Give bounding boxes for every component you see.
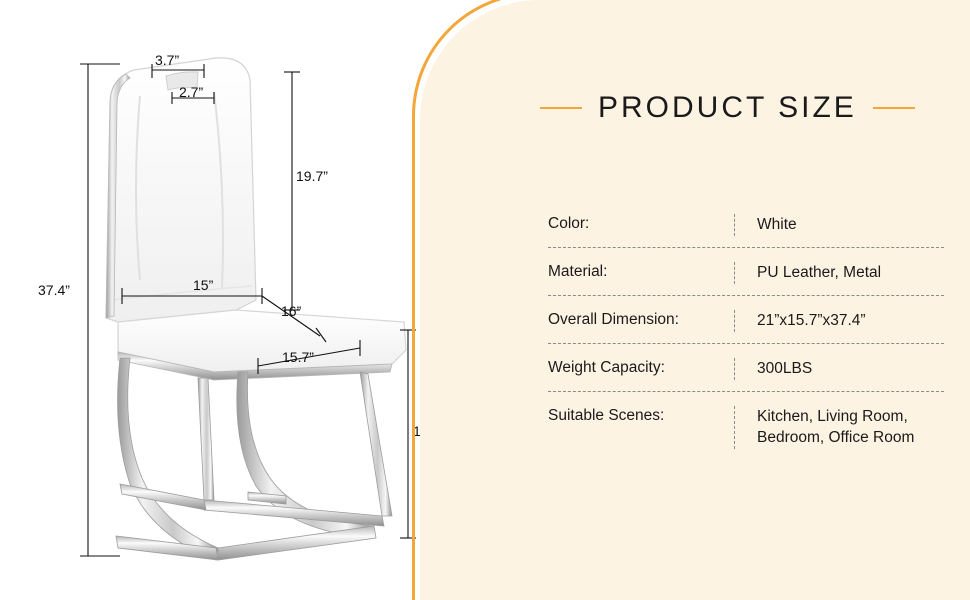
dimension-label-seat-depth: 16” (281, 303, 301, 319)
leg-rear-left (198, 378, 214, 500)
product-size-infographic: 37.4” 19.7” 3.7” 2.7” 15” 16” 15.7” 19” … (0, 0, 970, 600)
spec-label-overall-dimension: Overall Dimension: (548, 310, 734, 331)
spec-row-divider (734, 358, 735, 380)
spec-label-color: Color: (548, 214, 734, 235)
leg-rear-right (360, 372, 392, 516)
spec-row-divider (734, 262, 735, 284)
table-row: Overall Dimension: 21”x15.7”x37.4” (548, 296, 944, 344)
chair-diagram: 37.4” 19.7” 3.7” 2.7” 15” 16” 15.7” 19” (0, 0, 470, 600)
spec-row-divider (734, 406, 735, 449)
spec-value-overall-dimension: 21”x15.7”x37.4” (757, 310, 944, 331)
page-title: PRODUCT SIZE (598, 91, 857, 125)
spec-label-weight-capacity: Weight Capacity: (548, 358, 734, 379)
base-skid-left (116, 536, 218, 560)
spec-value-weight-capacity: 300LBS (757, 358, 944, 379)
spec-label-suitable-scenes: Suitable Scenes: (548, 406, 734, 427)
spec-value-color: White (757, 214, 944, 235)
title-rule-right (873, 107, 915, 109)
spec-label-material: Material: (548, 262, 734, 283)
table-row: Weight Capacity: 300LBS (548, 344, 944, 392)
dimension-label-backrest-height: 19.7” (296, 168, 328, 184)
base-skid-front (218, 526, 376, 560)
dimension-label-seat-width: 15.7” (282, 349, 314, 365)
dimension-label-seat-width-front: 15” (193, 277, 213, 293)
spec-table: Color: White Material: PU Leather, Metal… (548, 200, 944, 461)
spec-row-divider (734, 214, 735, 236)
spec-row-divider (734, 310, 735, 332)
dimension-label-overall-height: 37.4” (38, 282, 70, 298)
base-skid-left-rear (120, 484, 206, 510)
spec-value-suitable-scenes: Kitchen, Living Room, Bedroom, Office Ro… (757, 406, 944, 449)
chair-illustration (0, 0, 470, 600)
title-rule-left (540, 107, 582, 109)
table-row: Suitable Scenes: Kitchen, Living Room, B… (548, 392, 944, 461)
panel-title-block: PRODUCT SIZE (540, 86, 940, 130)
table-row: Color: White (548, 200, 944, 248)
dimension-label-handle-inner-width: 2.7” (179, 84, 203, 100)
spec-value-material: PU Leather, Metal (757, 262, 944, 283)
dimension-label-handle-outer-width: 3.7” (155, 52, 179, 68)
table-row: Material: PU Leather, Metal (548, 248, 944, 296)
